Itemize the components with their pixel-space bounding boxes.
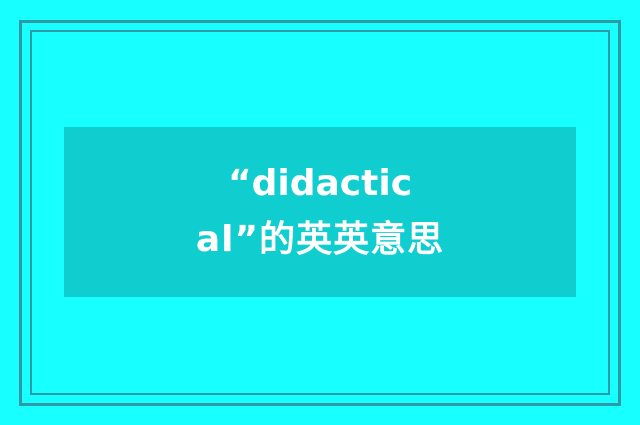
page-root: “didactic al”的英英意思 <box>0 0 640 425</box>
title-text-line-1: “didactic <box>228 156 412 212</box>
title-panel: “didactic al”的英英意思 <box>64 127 576 297</box>
title-text-line-2: al”的英英意思 <box>196 212 444 268</box>
